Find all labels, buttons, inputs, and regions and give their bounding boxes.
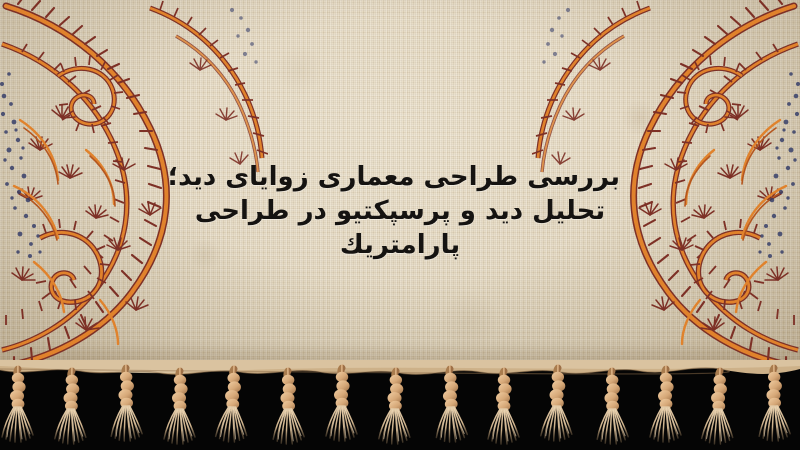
slide-title: بررسی طراحی معماری زوایای دید؛ تحلیل دید…	[180, 160, 620, 262]
title-line-3: پارامتریك	[180, 228, 620, 262]
title-line-1: بررسی طراحی معماری زوایای دید؛	[180, 160, 620, 194]
tassel-fringe	[0, 360, 800, 450]
title-line-2: تحلیل دید و پرسپکتیو در طراحی	[180, 194, 620, 228]
slide-canvas: بررسی طراحی معماری زوایای دید؛ تحلیل دید…	[0, 0, 800, 450]
